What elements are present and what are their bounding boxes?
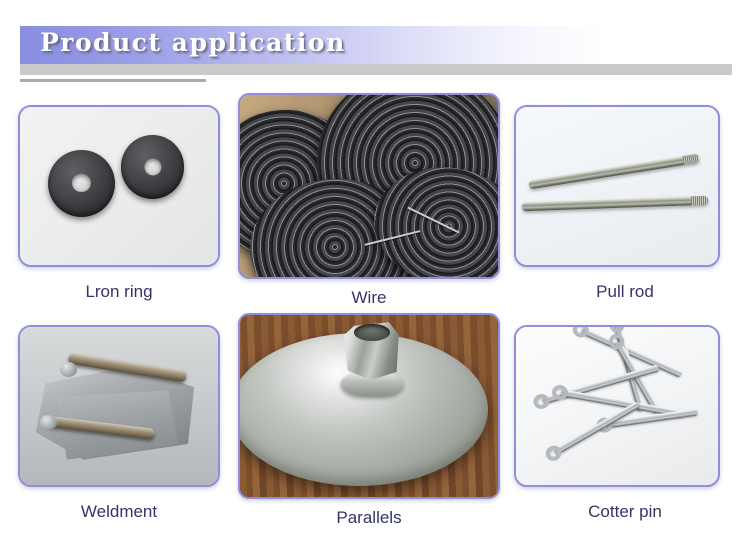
weld-bead-shape (60, 362, 77, 377)
product-caption: Pull rod (500, 282, 750, 302)
weldment-photo (20, 327, 218, 485)
product-caption: Weldment (0, 502, 238, 522)
pull-rod-photo (516, 107, 718, 265)
product-image-card[interactable] (18, 325, 220, 487)
wire-photo (240, 95, 498, 277)
page-header: Product application (0, 0, 750, 90)
rod-shape (528, 154, 699, 190)
header-rule-thick (20, 64, 732, 75)
rod-shape (522, 195, 708, 210)
gallery-row: Lron ring Wire (0, 88, 750, 308)
washer-shape (48, 150, 115, 217)
parallels-photo (240, 315, 498, 497)
washer-shape (121, 135, 184, 198)
cotter-pin-photo (516, 327, 718, 485)
page-title: Product application (40, 28, 346, 57)
product-gallery: Lron ring Wire (0, 88, 750, 528)
product-image-card[interactable] (238, 313, 500, 499)
product-image-card[interactable] (514, 325, 720, 487)
hub-assembly (341, 322, 403, 402)
product-caption: Lron ring (0, 282, 238, 302)
product-image-card[interactable] (514, 105, 720, 267)
product-image-card[interactable] (18, 105, 220, 267)
iron-ring-photo (20, 107, 218, 265)
product-image-card[interactable] (238, 93, 500, 279)
cotter-pin-shape (553, 401, 640, 456)
product-caption: Cotter pin (500, 502, 750, 522)
product-caption: Parallels (238, 508, 500, 528)
header-rule-thin (20, 79, 206, 82)
product-caption: Wire (238, 288, 500, 308)
gallery-row: Weldment Parallels (0, 308, 750, 528)
